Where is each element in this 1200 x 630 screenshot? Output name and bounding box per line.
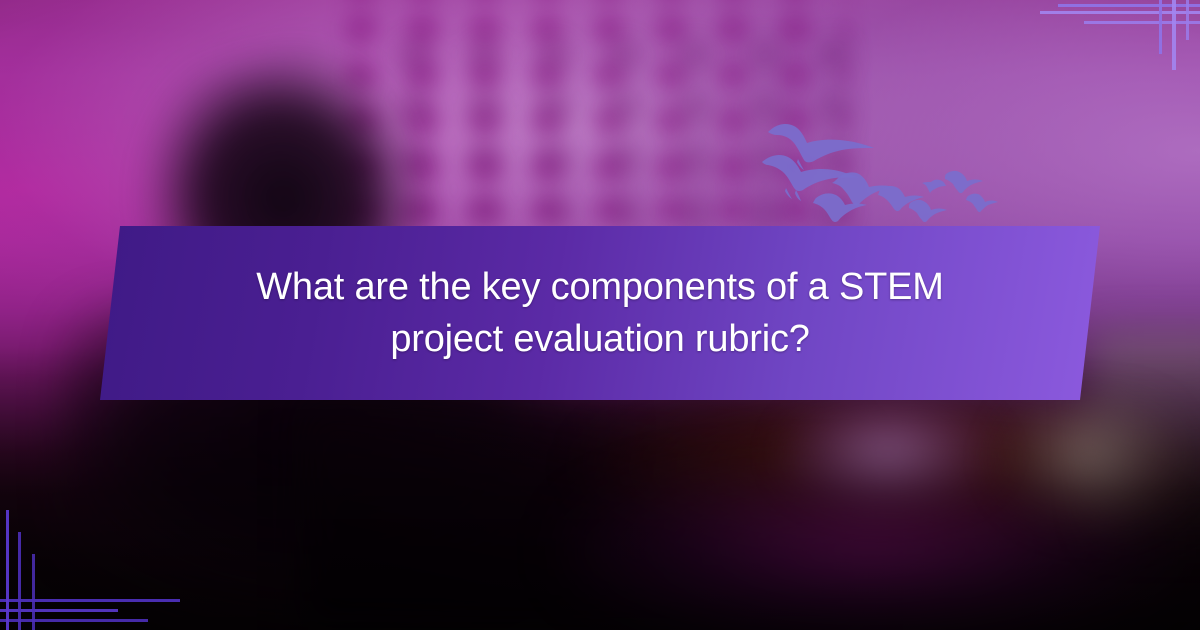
corner-line-v2 bbox=[1172, 0, 1176, 70]
corner-line-h2 bbox=[1040, 11, 1200, 14]
corner-line-v1 bbox=[1159, 0, 1162, 54]
corner-line-bh3 bbox=[0, 619, 148, 622]
corner-line-bv2 bbox=[18, 532, 21, 630]
corner-ornament-bottom-left bbox=[0, 510, 200, 630]
corner-line-bv3 bbox=[32, 554, 35, 630]
corner-line-h1 bbox=[1058, 4, 1200, 7]
page-title: What are the key components of a STEM pr… bbox=[205, 261, 995, 366]
corner-line-v3 bbox=[1186, 0, 1189, 40]
flying-birds-icon bbox=[760, 112, 1000, 222]
corner-line-h3 bbox=[1084, 21, 1200, 24]
corner-ornament-top-right bbox=[1040, 0, 1200, 70]
headline-banner: What are the key components of a STEM pr… bbox=[100, 226, 1100, 400]
corner-line-bh1 bbox=[0, 599, 180, 602]
social-card: What are the key components of a STEM pr… bbox=[0, 0, 1200, 630]
corner-line-bv1 bbox=[6, 510, 9, 630]
